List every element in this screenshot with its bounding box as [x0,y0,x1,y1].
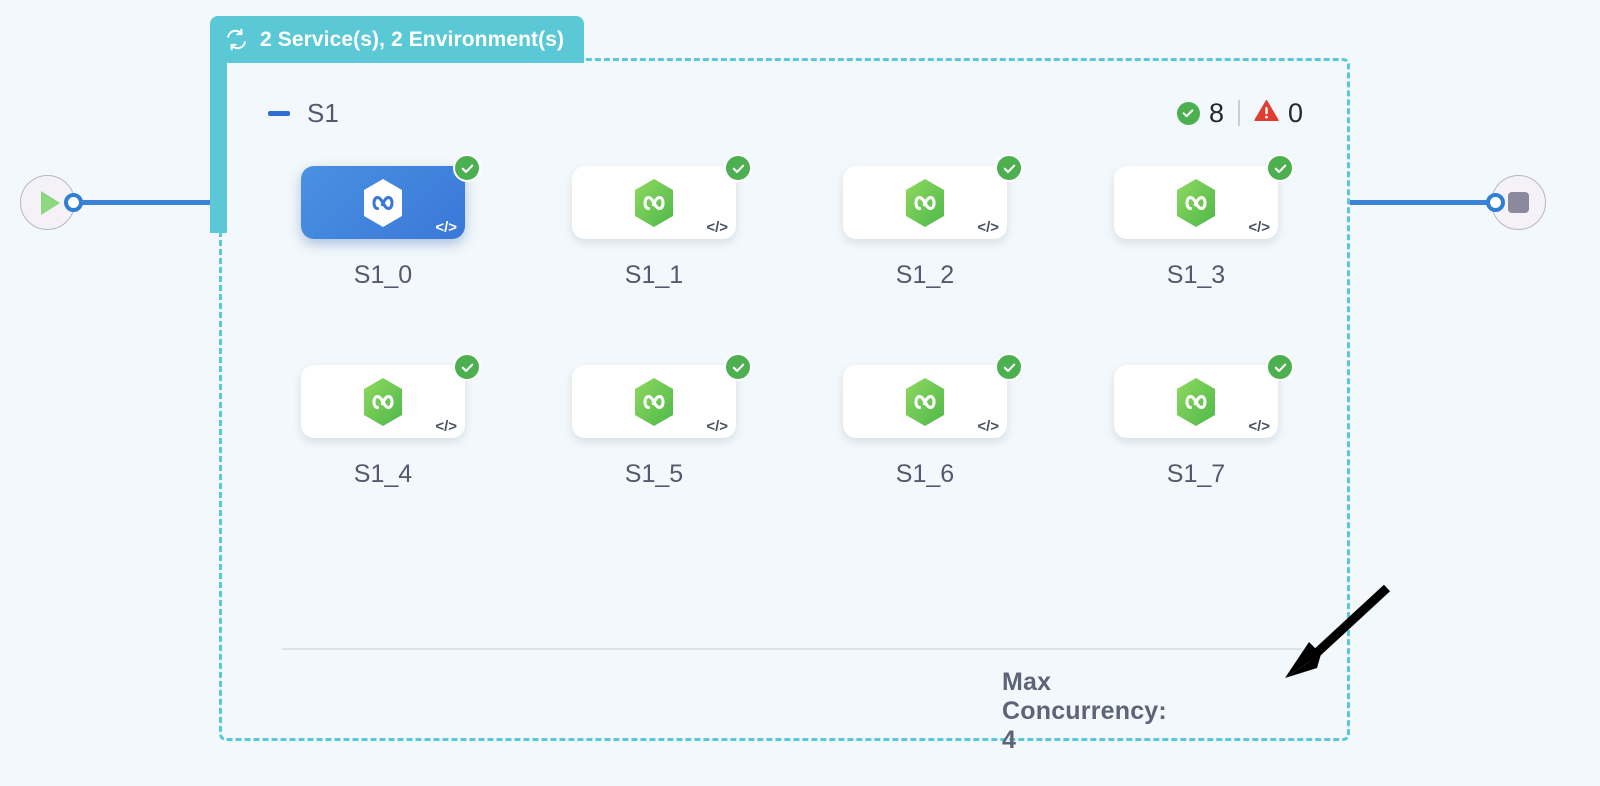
hexagon-infinity-icon [1174,377,1218,427]
node-status-check-icon [724,353,752,381]
service-node-card[interactable]: </> [1114,166,1278,239]
hexagon-infinity-icon [632,178,676,228]
status-divider [1238,100,1240,126]
service-node-label: S1_0 [354,261,412,290]
code-brackets-icon[interactable]: </> [435,219,457,236]
hexagon-infinity-icon [903,377,947,427]
edge-start-to-group [74,200,220,205]
hexagon-infinity-icon [632,377,676,427]
service-node-s1_7[interactable]: </> S1_7 [1081,365,1311,489]
service-node-s1_6[interactable]: </> S1_6 [810,365,1040,489]
service-node-label: S1_2 [896,261,954,290]
hexagon-infinity-icon [903,178,947,228]
node-status-check-icon [995,154,1023,182]
node-status-check-icon [724,154,752,182]
service-node-label: S1_5 [625,460,683,489]
group-name-label: S1 [307,98,339,129]
service-node-label: S1_7 [1167,460,1225,489]
service-node-label: S1_4 [354,460,412,489]
hexagon-infinity-icon [361,178,405,228]
hexagon-infinity-icon [1174,178,1218,228]
code-brackets-icon[interactable]: </> [435,418,457,435]
status-success: 8 [1177,98,1224,129]
code-brackets-icon[interactable]: </> [1248,418,1270,435]
node-status-check-icon [1266,154,1294,182]
service-node-s1_2[interactable]: </> S1_2 [810,166,1040,290]
service-node-grid: </> S1_0 [268,166,1308,489]
group-header-label: 2 Service(s), 2 Environment(s) [260,28,564,52]
group-header-tab[interactable]: 2 Service(s), 2 Environment(s) [210,16,584,63]
group-status-summary: 8 0 [1177,98,1303,129]
refresh-cycle-icon [224,27,249,52]
service-node-label: S1_3 [1167,261,1225,290]
service-node-s1_4[interactable]: </> S1_4 [268,365,498,489]
play-icon [41,191,60,215]
status-error-count: 0 [1288,98,1303,129]
edge-group-to-end [1349,200,1496,205]
code-brackets-icon[interactable]: </> [706,219,728,236]
service-node-card[interactable]: </> [301,166,465,239]
node-status-check-icon [1266,353,1294,381]
service-node-card[interactable]: </> [572,166,736,239]
service-node-card[interactable]: </> [1114,365,1278,438]
service-node-card[interactable]: </> [572,365,736,438]
workflow-canvas: 2 Service(s), 2 Environment(s) S1 8 [0,0,1600,786]
group-title-row: S1 8 0 [268,95,1303,131]
service-node-label: S1_6 [896,460,954,489]
node-status-check-icon [995,353,1023,381]
code-brackets-icon[interactable]: </> [977,418,999,435]
minus-icon [268,111,290,116]
service-node-s1_0[interactable]: </> S1_0 [268,166,498,290]
node-status-check-icon [453,353,481,381]
code-brackets-icon[interactable]: </> [977,219,999,236]
stop-icon [1508,192,1529,213]
footer-divider [282,648,1302,650]
hexagon-infinity-icon [361,377,405,427]
service-node-card[interactable]: </> [843,166,1007,239]
warning-triangle-icon [1254,99,1279,127]
group-collapse-toggle[interactable]: S1 [268,98,339,129]
check-circle-icon [1177,102,1200,125]
service-node-label: S1_1 [625,261,683,290]
service-node-s1_1[interactable]: </> S1_1 [539,166,769,290]
node-status-check-icon [453,154,481,182]
service-node-s1_3[interactable]: </> S1_3 [1081,166,1311,290]
code-brackets-icon[interactable]: </> [1248,219,1270,236]
start-node-handle[interactable] [64,193,83,212]
status-error: 0 [1254,98,1303,129]
service-node-card[interactable]: </> [301,365,465,438]
end-node-handle[interactable] [1486,193,1505,212]
status-success-count: 8 [1209,98,1224,129]
service-node-card[interactable]: </> [843,365,1007,438]
code-brackets-icon[interactable]: </> [706,418,728,435]
service-node-s1_5[interactable]: </> S1_5 [539,365,769,489]
